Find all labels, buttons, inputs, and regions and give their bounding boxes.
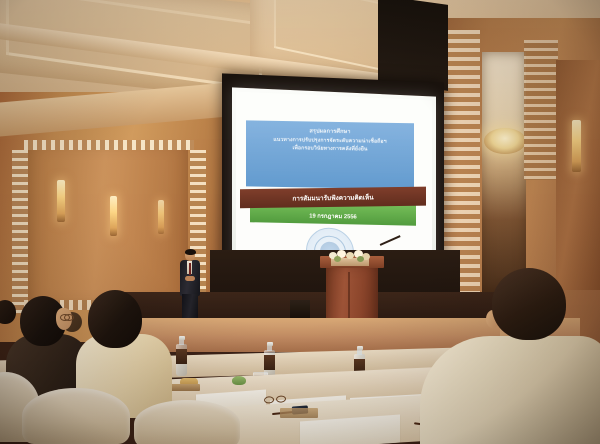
bottle-cap [357, 346, 363, 350]
chandelier-icon [484, 128, 526, 154]
right-wall-slats [524, 40, 558, 180]
right-wall-wood-panel [556, 60, 600, 290]
attendee-right-torso [420, 336, 600, 444]
bottle-label [176, 349, 187, 364]
presenter-hair [185, 249, 196, 255]
serving-tray [168, 384, 200, 391]
slide-banner: การสัมมนารับฟังความคิดเห็น [240, 187, 426, 209]
bottle-cap [179, 336, 185, 340]
slide-banner-text: การสัมมนารับฟังความคิดเห็น [292, 192, 373, 203]
flower [346, 252, 354, 259]
eyeglasses [264, 395, 286, 403]
wall-sconce-light-icon [572, 120, 581, 172]
conference-hall-photo: สรุปผลการศึกษา แนวทางการปรับปรุงการจัดระ… [0, 0, 600, 444]
stage-monitor-speaker [290, 300, 310, 318]
water-bottle [176, 336, 187, 376]
slide-heading-line-3: เพื่อกรอบวินัยทางการคลังที่ยั่งยืน [246, 143, 414, 154]
wall-sconce-light-icon [158, 200, 164, 234]
serving-tray [280, 408, 318, 418]
presenter-tie [189, 263, 191, 275]
presenter-person [178, 250, 202, 324]
presenter-hands [185, 276, 195, 281]
left-wall-panel [28, 140, 188, 310]
slide-heading-text: สรุปผลการศึกษา แนวทางการปรับปรุงการจัดระ… [246, 126, 414, 154]
wall-sconce-light-icon [57, 180, 65, 222]
bottle-label [264, 355, 275, 370]
left-wall-trim [24, 140, 194, 150]
slide-date-text: 19 กรกฎาคม 2556 [250, 209, 416, 222]
attendee-glasses [60, 314, 74, 318]
plant-decoration [232, 376, 246, 385]
banquet-chair [134, 400, 240, 444]
foliage [357, 256, 364, 262]
banquet-chair [22, 388, 130, 444]
wall-sconce-light-icon [110, 196, 117, 236]
right-wall-opening [482, 52, 526, 292]
upper-dark-panel [378, 0, 448, 91]
slide-heading-panel: สรุปผลการศึกษา แนวทางการปรับปรุงการจัดระ… [246, 120, 414, 189]
foliage [334, 256, 341, 262]
attendee-center-head [88, 290, 142, 348]
bottle-cap [267, 342, 273, 346]
attendee-right-head [492, 268, 566, 340]
floral-arrangement [325, 250, 379, 262]
left-wall-trim [12, 150, 28, 314]
